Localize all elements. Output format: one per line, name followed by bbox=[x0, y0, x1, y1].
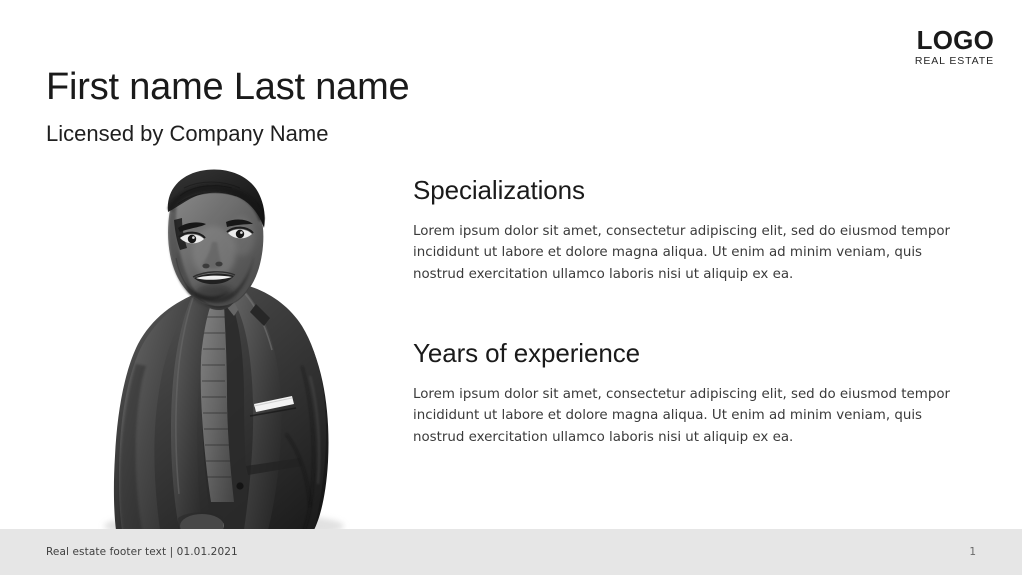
page-number: 1 bbox=[969, 546, 976, 558]
slide-footer: Real estate footer text | 01.01.2021 1 bbox=[0, 529, 1022, 575]
footer-text: Real estate footer text | 01.01.2021 bbox=[46, 546, 238, 558]
section-body: Lorem ipsum dolor sit amet, consectetur … bbox=[413, 221, 969, 286]
page-title: First name Last name bbox=[46, 66, 409, 110]
portrait-photo bbox=[74, 166, 356, 530]
section-years-of-experience: Years of experience Lorem ipsum dolor si… bbox=[413, 337, 973, 448]
section-heading: Years of experience bbox=[413, 337, 973, 370]
content-column: Specializations Lorem ipsum dolor sit am… bbox=[413, 174, 973, 448]
section-specializations: Specializations Lorem ipsum dolor sit am… bbox=[413, 174, 973, 285]
logo-wordmark: LOGO bbox=[915, 27, 994, 53]
portrait-illustration bbox=[74, 166, 356, 530]
section-heading: Specializations bbox=[413, 174, 973, 207]
logo-tagline: REAL ESTATE bbox=[915, 56, 994, 67]
section-body: Lorem ipsum dolor sit amet, consectetur … bbox=[413, 384, 969, 449]
slide-canvas: LOGO REAL ESTATE First name Last name Li… bbox=[0, 0, 1022, 575]
brand-logo: LOGO REAL ESTATE bbox=[915, 27, 994, 67]
page-subtitle: Licensed by Company Name bbox=[46, 121, 328, 147]
